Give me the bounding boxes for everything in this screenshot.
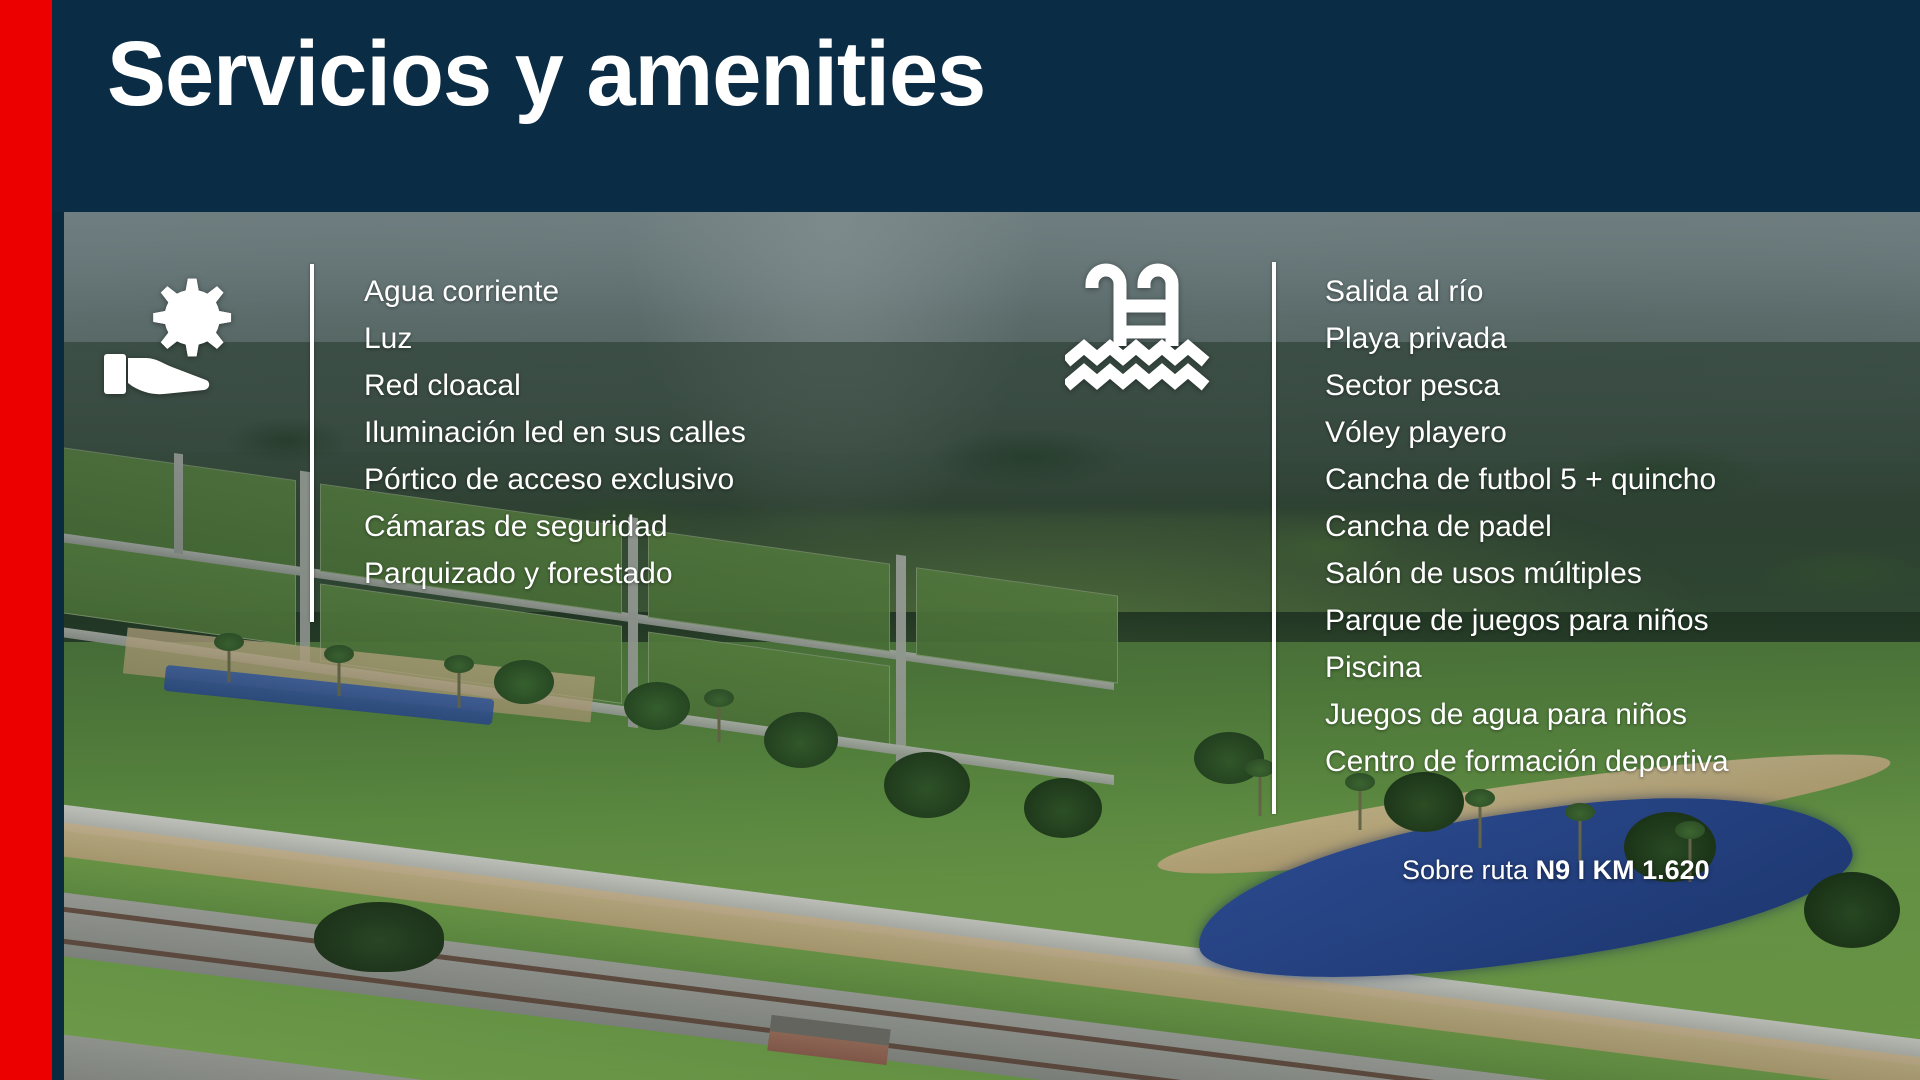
caption-prefix: Sobre ruta [1402, 855, 1536, 885]
list-item: Pórtico de acceso exclusivo [364, 456, 746, 503]
list-item: Sector pesca [1325, 362, 1729, 409]
pool-ladder-icon [1065, 258, 1215, 398]
gear-in-hand-icon [100, 266, 260, 396]
amenities-column: Salida al río Playa privada Sector pesca… [1325, 268, 1729, 785]
content-overlay: Agua corriente Luz Red cloacal Iluminaci… [0, 0, 1920, 1080]
list-item: Playa privada [1325, 315, 1729, 362]
list-item: Cancha de padel [1325, 503, 1729, 550]
list-item: Vóley playero [1325, 409, 1729, 456]
list-item: Luz [364, 315, 746, 362]
list-item: Salida al río [1325, 268, 1729, 315]
list-item: Cancha de futbol 5 + quincho [1325, 456, 1729, 503]
list-item: Agua corriente [364, 268, 746, 315]
list-item: Iluminación led en sus calles [364, 409, 746, 456]
slide-root: Servicios y amenities [0, 0, 1920, 1080]
list-item: Red cloacal [364, 362, 746, 409]
amenities-list: Salida al río Playa privada Sector pesca… [1325, 268, 1729, 785]
services-column: Agua corriente Luz Red cloacal Iluminaci… [364, 268, 746, 597]
location-caption: Sobre ruta N9 I KM 1.620 [1402, 855, 1710, 886]
list-item: Centro de formación deportiva [1325, 738, 1729, 785]
divider-left [310, 264, 314, 622]
divider-right [1272, 262, 1276, 814]
list-item: Parque de juegos para niños [1325, 597, 1729, 644]
list-item: Parquizado y forestado [364, 550, 746, 597]
list-item: Piscina [1325, 644, 1729, 691]
list-item: Cámaras de seguridad [364, 503, 746, 550]
caption-emphasis: N9 I KM 1.620 [1536, 855, 1710, 885]
services-list: Agua corriente Luz Red cloacal Iluminaci… [364, 268, 746, 597]
list-item: Salón de usos múltiples [1325, 550, 1729, 597]
list-item: Juegos de agua para niños [1325, 691, 1729, 738]
